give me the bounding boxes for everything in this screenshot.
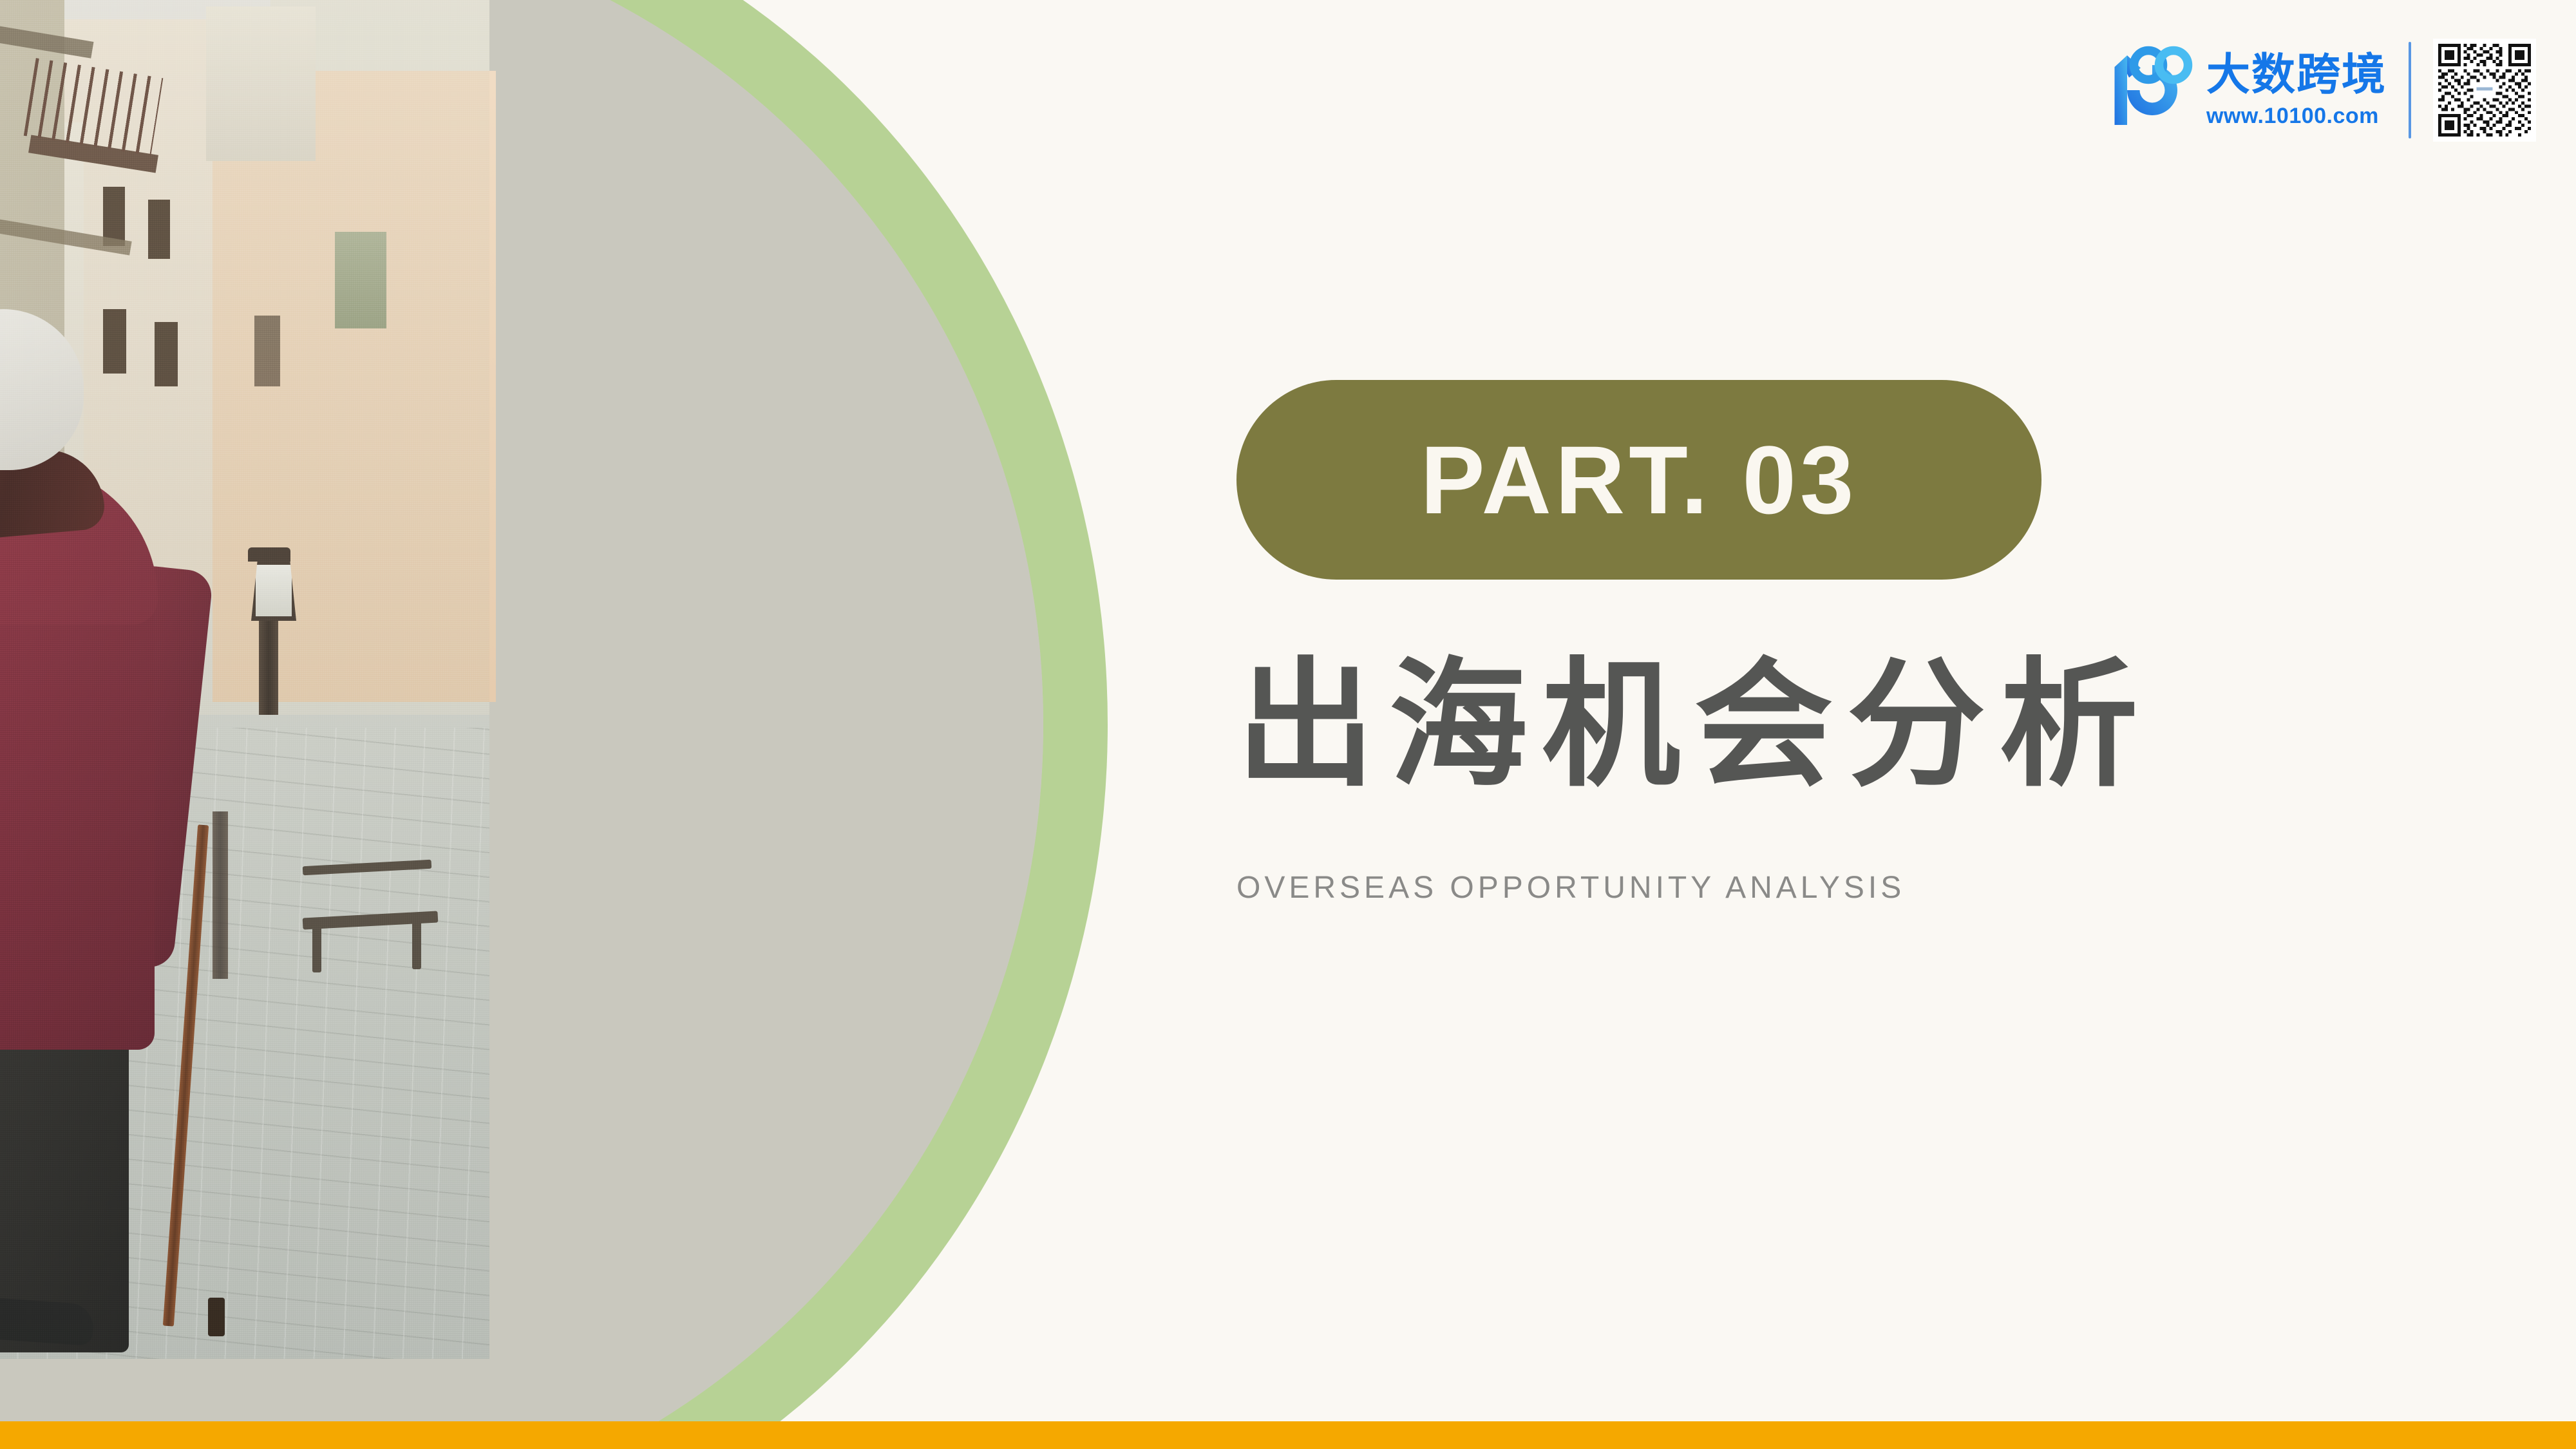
qr-code-matrix [2438, 44, 2531, 137]
photo-arc-mask [0, 0, 1043, 1449]
bottom-accent-bar [0, 1421, 2576, 1449]
window [254, 316, 280, 386]
10100-logo-icon [2098, 42, 2195, 138]
park-bench-leg [412, 918, 421, 969]
park-bench-leg [312, 921, 321, 972]
slide-content: PART. 03 出海机会分析 OVERSEAS OPPORTUNITY ANA… [1236, 380, 2152, 905]
part-number-badge: PART. 03 [1236, 380, 2041, 580]
qr-code[interactable] [2433, 39, 2536, 142]
slide-root: 大数跨境 www.10100.com [0, 0, 2576, 1449]
window [155, 322, 178, 386]
part-number-label: PART. 03 [1421, 424, 1858, 536]
header-divider [2409, 42, 2411, 138]
walking-cane-tip [208, 1298, 225, 1336]
street-photo [0, 0, 1043, 1449]
window [103, 309, 126, 374]
bollard [213, 811, 228, 979]
brand-url: www.10100.com [2206, 105, 2379, 127]
page-subtitle: OVERSEAS OPPORTUNITY ANALYSIS [1236, 870, 2152, 905]
brand-logo[interactable]: 大数跨境 www.10100.com [2098, 42, 2387, 138]
lamp-post-cap [248, 547, 290, 562]
header-brand-bar: 大数跨境 www.10100.com [2098, 39, 2536, 142]
brand-name-cn: 大数跨境 [2206, 53, 2387, 97]
window-shutter [335, 232, 386, 328]
left-visual-panel [0, 0, 1133, 1449]
lamp-post-head [251, 560, 296, 621]
window [148, 200, 170, 259]
page-title: 出海机会分析 [1236, 656, 2152, 794]
building-roofline [206, 6, 316, 161]
